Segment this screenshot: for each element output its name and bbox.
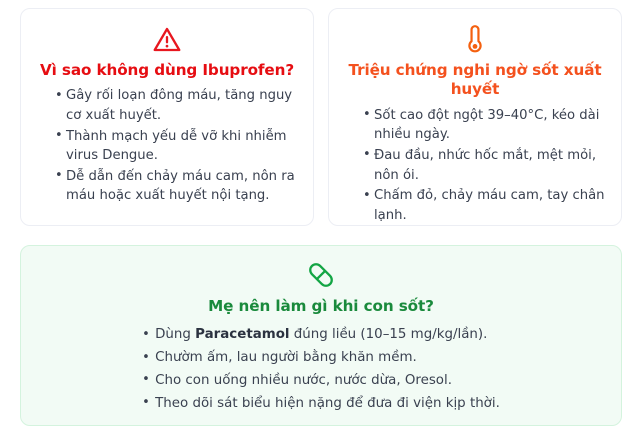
- list-item: Theo dõi sát biểu hiện nặng để đưa đi vi…: [142, 393, 500, 415]
- bullet-list: Sốt cao đột ngột 39–40°C, kéo dài nhiều …: [345, 106, 605, 226]
- list-item: Thành mạch yếu dễ vỡ khi nhiễm virus Den…: [55, 127, 297, 166]
- list-item: Chườm ấm, lau người bằng khăn mềm.: [142, 347, 500, 369]
- green-list-wrapper: Dùng Paracetamol đúng liều (10–15 mg/kg/…: [37, 324, 605, 415]
- card-dengue-symptoms: Triệu chứng nghi ngờ sốt xuất huyết Sốt …: [328, 8, 622, 226]
- card-title: Vì sao không dùng Ibuprofen?: [37, 61, 297, 80]
- card-what-to-do: Mẹ nên làm gì khi con sốt? Dùng Paraceta…: [20, 245, 622, 426]
- list-item: Đau đầu, nhức hốc mắt, mệt mỏi, nôn ói.: [363, 146, 605, 185]
- card-title: Triệu chứng nghi ngờ sốt xuất huyết: [345, 61, 605, 100]
- list-item-text-pre: Dùng: [155, 327, 195, 342]
- list-item: Dùng Paracetamol đúng liều (10–15 mg/kg/…: [142, 324, 500, 346]
- warning-triangle-icon: [37, 23, 297, 55]
- list-item: Gây rối loạn đông máu, tăng nguy cơ xuất…: [55, 86, 297, 125]
- bullet-list: Gây rối loạn đông máu, tăng nguy cơ xuất…: [37, 86, 297, 206]
- infographic-page: Vì sao không dùng Ibuprofen? Gây rối loạ…: [0, 0, 640, 436]
- list-item: Cho con uống nhiều nước, nước dừa, Oreso…: [142, 370, 500, 392]
- list-item: Dễ dẫn đến chảy máu cam, nôn ra máu hoặc…: [55, 167, 297, 206]
- thermometer-icon: [345, 23, 605, 55]
- card-title: Mẹ nên làm gì khi con sốt?: [37, 297, 605, 316]
- list-item-text-bold: Paracetamol: [195, 327, 289, 342]
- list-item: Sốt cao đột ngột 39–40°C, kéo dài nhiều …: [363, 106, 605, 145]
- card-ibuprofen-warning: Vì sao không dùng Ibuprofen? Gây rối loạ…: [20, 8, 314, 226]
- top-card-row: Vì sao không dùng Ibuprofen? Gây rối loạ…: [20, 8, 622, 226]
- list-item-text-post: đúng liều (10–15 mg/kg/lần).: [290, 327, 488, 342]
- list-item: Chấm đỏ, chảy máu cam, tay chân lạnh.: [363, 186, 605, 225]
- pill-capsule-icon: [37, 258, 605, 292]
- bullet-list: Dùng Paracetamol đúng liều (10–15 mg/kg/…: [142, 324, 500, 415]
